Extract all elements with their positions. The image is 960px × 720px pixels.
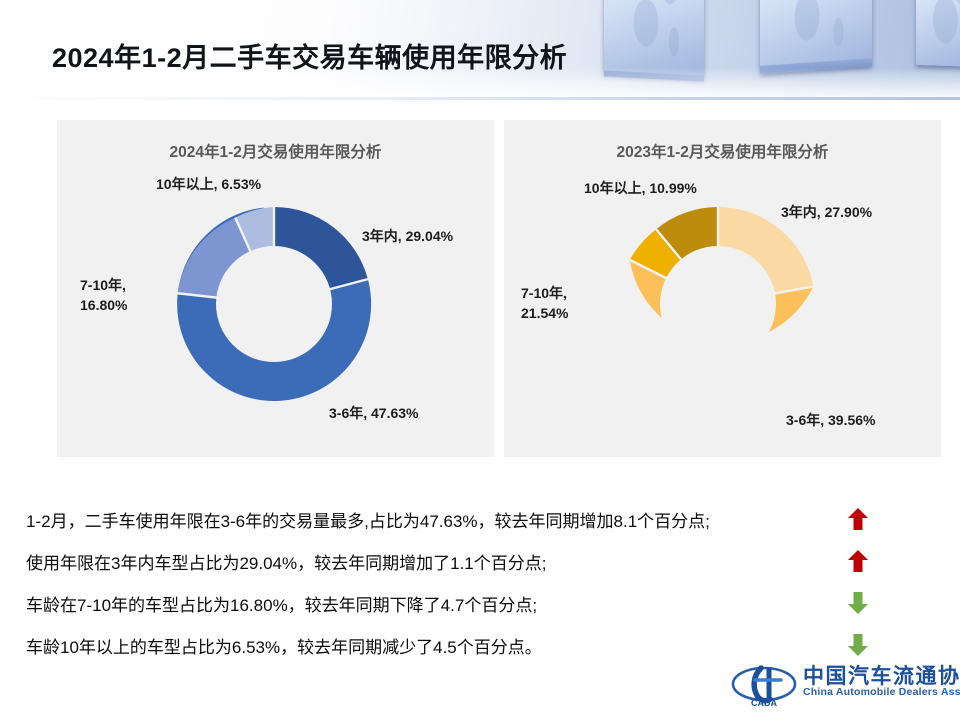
down-arrow-icon bbox=[847, 633, 869, 657]
donut-label-7to10: 7-10年, 21.54% bbox=[521, 283, 616, 324]
donut-label-7to10: 7-10年, 16.80% bbox=[80, 275, 175, 316]
donut-label-over10: 10年以上, 10.99% bbox=[584, 178, 697, 198]
cube-world-map-texture bbox=[916, 0, 960, 67]
bullet-line: 车龄在7-10年的车型占比为16.80%，较去年同期下降了4.7个百分点; bbox=[26, 582, 836, 624]
decorative-cube-3 bbox=[916, 0, 960, 67]
up-arrow-icon bbox=[847, 507, 869, 531]
trend-indicator-column bbox=[838, 498, 878, 666]
donut-chart-2023: 3年内, 27.90% 3-6年, 39.56% 7-10年, 21.54% 1… bbox=[504, 120, 941, 457]
page-title: 2024年1-2月二手车交易车辆使用年限分析 bbox=[52, 36, 567, 75]
trend-indicator-slot bbox=[838, 540, 878, 582]
bullet-text: 使用年限在3年内车型占比为29.04%，较去年同期增加了1.1个百分点; bbox=[26, 549, 546, 574]
chart-panel-2024: 2024年1-2月交易使用年限分析 bbox=[57, 120, 494, 457]
donut-label-3to6: 3-6年, 47.63% bbox=[329, 403, 419, 423]
cada-emblem-icon: CADA bbox=[731, 662, 797, 708]
bullet-text: 1-2月，二手车使用年限在3-6年的交易量最多,占比为47.63%，较去年同期增… bbox=[26, 507, 710, 532]
trend-indicator-slot bbox=[838, 498, 878, 540]
donut-label-3to6: 3-6年, 39.56% bbox=[786, 410, 876, 430]
organization-logo: CADA 中国汽车流通协会 China Automobile Dealers A… bbox=[731, 660, 949, 710]
chart-panel-2023: 2023年1-2月交易使用年限分析 3年内, 2 bbox=[504, 120, 941, 457]
bullet-line: 1-2月，二手车使用年限在3-6年的交易量最多,占比为47.63%，较去年同期增… bbox=[26, 498, 836, 540]
donut-svg-2023 bbox=[618, 204, 818, 404]
donut-label-within3: 3年内, 27.90% bbox=[781, 202, 872, 222]
cada-emblem-text: CADA bbox=[751, 698, 777, 708]
bullet-line: 车龄10年以上的车型占比为6.53%，较去年同期减少了4.5个百分点。 bbox=[26, 624, 836, 666]
down-arrow-icon bbox=[847, 591, 869, 615]
logo-english-name: China Automobile Dealers Association bbox=[803, 686, 960, 698]
donut-label-over10: 10年以上, 6.53% bbox=[156, 174, 261, 194]
summary-bullet-list: 1-2月，二手车使用年限在3-6年的交易量最多,占比为47.63%，较去年同期增… bbox=[26, 498, 836, 666]
banner-divider bbox=[0, 97, 960, 100]
trend-indicator-slot bbox=[838, 582, 878, 624]
donut-hole bbox=[216, 246, 332, 362]
donut-hole bbox=[660, 246, 776, 362]
bullet-line: 使用年限在3年内车型占比为29.04%，较去年同期增加了1.1个百分点; bbox=[26, 540, 836, 582]
bullet-text: 车龄在7-10年的车型占比为16.80%，较去年同期下降了4.7个百分点; bbox=[26, 591, 537, 616]
donut-chart-2024: 3年内, 29.04% 3-6年, 47.63% 7-10年, 16.80% 1… bbox=[57, 120, 494, 457]
up-arrow-icon bbox=[847, 549, 869, 573]
donut-svg-2024 bbox=[174, 204, 374, 404]
donut-label-within3: 3年内, 29.04% bbox=[362, 226, 453, 246]
slide-header-banner: 2024年1-2月二手车交易车辆使用年限分析 bbox=[0, 0, 960, 97]
bullet-text: 车龄10年以上的车型占比为6.53%，较去年同期减少了4.5个百分点。 bbox=[26, 633, 542, 658]
